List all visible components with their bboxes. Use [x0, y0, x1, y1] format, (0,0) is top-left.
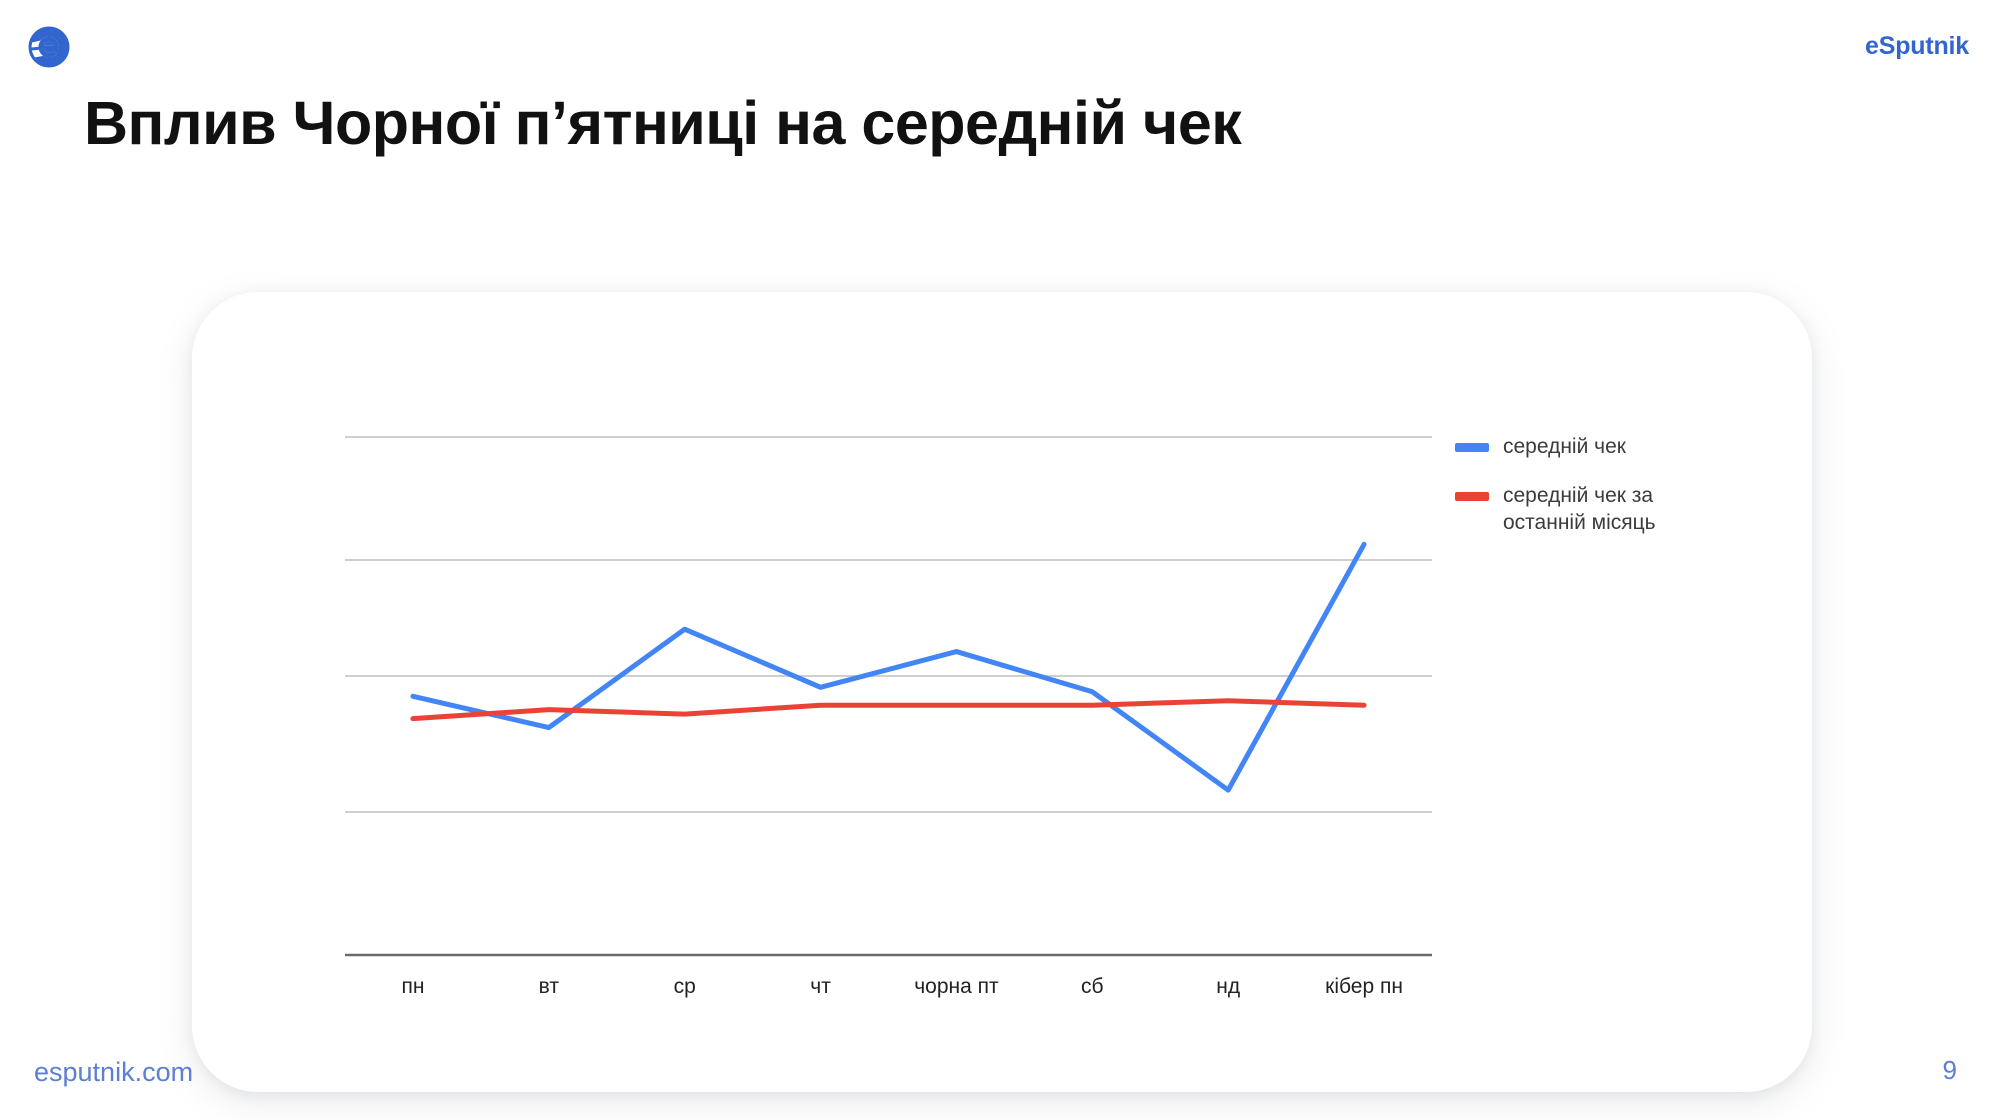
esputnik-circle-e-icon	[28, 26, 70, 68]
legend-item-1[interactable]: середній чек за останній місяць	[1455, 483, 1693, 537]
footer-site-link[interactable]: esputnik.com	[34, 1057, 193, 1088]
x-tick-пн: пн	[401, 975, 424, 999]
x-tick-кібер-пн: кібер пн	[1325, 975, 1403, 999]
chart-legend: середній чексередній чек за останній міс…	[1455, 434, 1693, 559]
brand-wordmark: eSputnik	[1865, 32, 1969, 61]
page-number: 9	[1943, 1055, 1957, 1086]
legend-label-1: середній чек за останній місяць	[1503, 483, 1693, 537]
x-tick-чорна-пт: чорна пт	[914, 975, 998, 999]
legend-swatch-icon-0	[1455, 443, 1489, 452]
legend-label-0: середній чек	[1503, 434, 1626, 461]
x-tick-ср: ср	[674, 975, 696, 999]
x-tick-сб: сб	[1081, 975, 1104, 999]
legend-swatch-icon-1	[1455, 492, 1489, 501]
chart-card	[192, 292, 1812, 1092]
x-tick-нд: нд	[1216, 975, 1240, 999]
x-tick-чт: чт	[810, 975, 831, 999]
legend-item-0[interactable]: середній чек	[1455, 434, 1693, 461]
page-title: Вплив Чорної п’ятниці на середній чек	[84, 88, 1241, 158]
slide: eSputnik Вплив Чорної п’ятниці на середн…	[0, 0, 1999, 1120]
x-tick-вт: вт	[539, 975, 559, 999]
